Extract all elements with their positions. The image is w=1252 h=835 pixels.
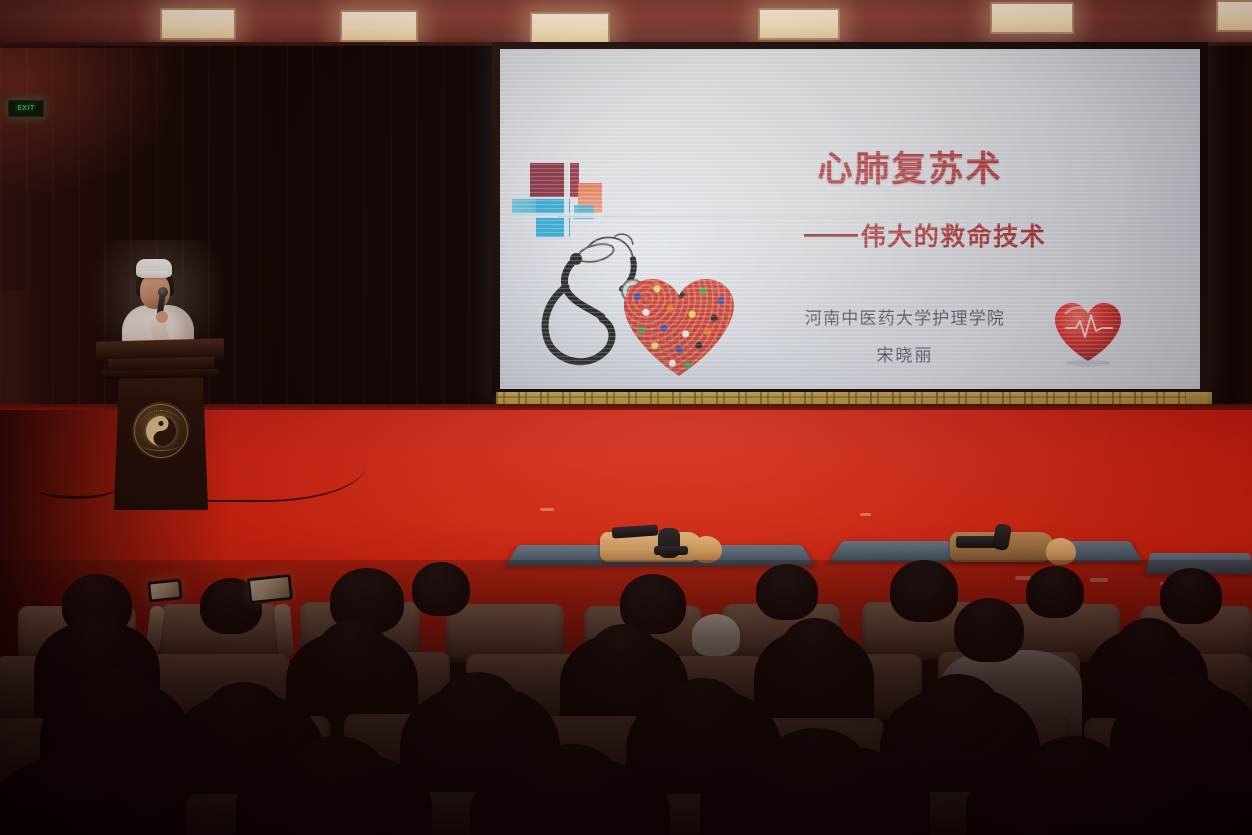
audience-head-a6 [756, 564, 818, 620]
yin-dot-dark [159, 421, 164, 426]
audience-white-cap [692, 614, 740, 656]
audience-head-a4 [412, 562, 470, 616]
audience-head-a8 [1026, 566, 1084, 618]
carpet-speck-1 [540, 508, 554, 511]
subtitle-dash [804, 234, 858, 237]
exit-sign: EXIT [8, 100, 44, 117]
presentation-screen: 心肺复苏术 伟大的救命技术 河南中医药大学护理学院 宋晓丽 [500, 49, 1200, 389]
audience-head-c1 [74, 670, 158, 746]
stethoscope-pill-heart-graphic [536, 229, 736, 379]
ceiling-light-2 [340, 10, 418, 42]
audience-head-b3 [588, 624, 660, 690]
auditorium-photo-scene: EXIT 心肺复苏术 伟大的救命技术 河南中医药大学护理学院 宋晓丽 [0, 0, 1252, 835]
audience-head-d4 [756, 728, 874, 832]
ceiling-light-1 [160, 8, 236, 40]
slide-presenter-name: 宋晓丽 [755, 341, 1055, 366]
ceiling-light-6 [1216, 0, 1252, 32]
slide-subtitle: 伟大的救命技术 [861, 217, 1047, 253]
audience-head-b4 [780, 618, 850, 682]
audience-head-a7 [890, 560, 958, 622]
slide-title: 心肺复苏术 [500, 141, 1200, 192]
slide-organization: 河南中医药大学护理学院 [755, 304, 1055, 329]
yin-dot-light [159, 436, 164, 441]
phone-screen [250, 577, 290, 601]
manikin-strap-chest [956, 536, 998, 548]
audience-head-c3 [434, 672, 522, 752]
nurse-cap [136, 259, 172, 277]
ceiling-light-3 [530, 12, 610, 44]
smartphone-recording-1 [147, 578, 183, 602]
audience-head-c4 [660, 678, 746, 756]
ceiling-light-4 [758, 8, 840, 40]
exit-sign-label: EXIT [17, 105, 35, 112]
podium-emblem [132, 402, 190, 460]
audience-head-c2 [202, 682, 286, 758]
ceiling-light-5 [990, 2, 1074, 34]
yin-yang-icon [146, 416, 176, 446]
ecg-heart-badge [1052, 301, 1124, 367]
audience-head-d3 [520, 744, 624, 835]
cpr-manikin-left [600, 524, 740, 564]
audience-head-c6 [1142, 672, 1226, 750]
audience-head-d2 [284, 736, 390, 830]
recording-arm-2 [274, 603, 294, 656]
phone-screen [150, 582, 179, 600]
carpet-speck-5 [860, 513, 871, 516]
wall-warm-light-falloff [0, 48, 180, 198]
ecg-heart-icon [1052, 301, 1124, 367]
speaker-hand [156, 311, 168, 323]
lectern-podium [108, 340, 212, 515]
smartphone-recording-2 [247, 574, 293, 604]
pill-heart-image [624, 279, 734, 377]
manikin-strap-band [654, 546, 688, 555]
cpr-manikin-right [950, 524, 1090, 564]
audience-head-a9 [1160, 568, 1222, 624]
audience-head-b2 [316, 620, 390, 688]
side-door [0, 290, 42, 410]
pill-heart-capsules [624, 279, 734, 377]
audience-head-c5 [914, 674, 1002, 754]
audience-head-d1 [34, 742, 138, 834]
audience-head-b5 [954, 598, 1024, 662]
audio-cable-2 [38, 480, 114, 499]
manikin-head [692, 536, 722, 563]
audience-area [0, 560, 1252, 835]
audience-head-d5 [1018, 736, 1128, 834]
